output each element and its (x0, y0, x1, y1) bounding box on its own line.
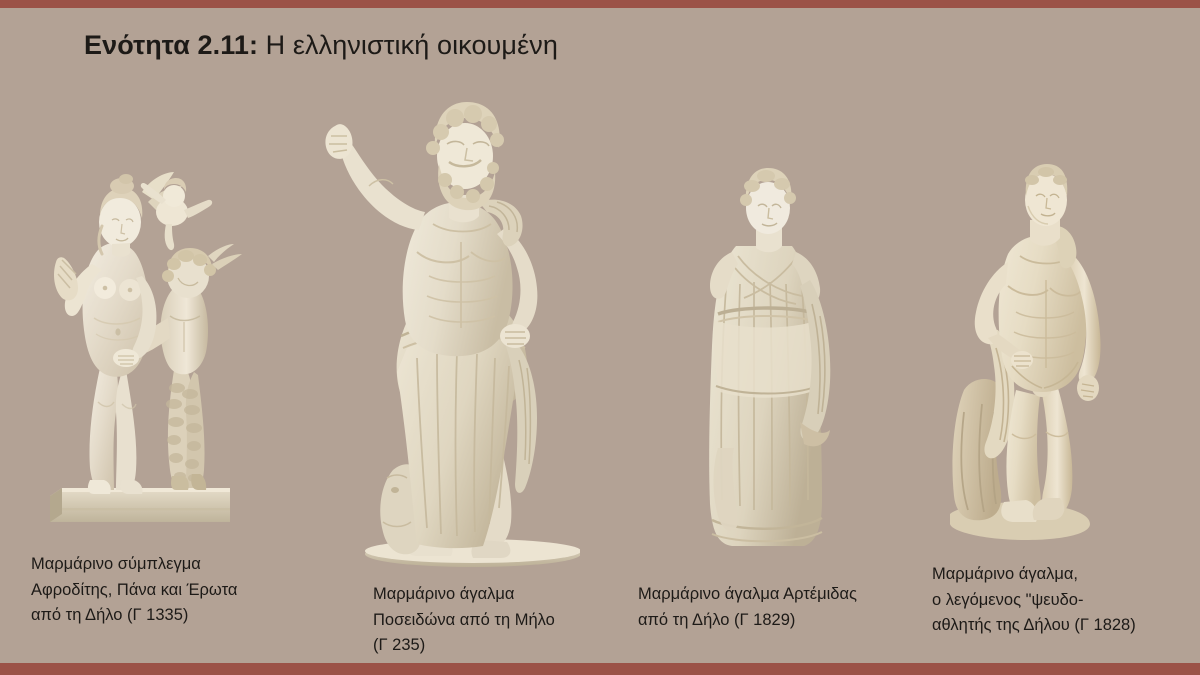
head (740, 168, 796, 234)
head (426, 102, 504, 210)
peplos-overfold (714, 320, 819, 398)
figure-eros (141, 172, 212, 250)
slide-title-rest: Η ελληνιστική οικουμένη (258, 30, 558, 60)
slide-title: Ενότητα 2.11: Η ελληνιστική οικουμένη (84, 30, 558, 61)
statue-image-pseudo-athlete-delos (942, 162, 1128, 552)
caption-aphrodite-pan-eros: Μαρμάρινο σύμπλεγμα Αφροδίτης, Πάνα και … (31, 552, 281, 629)
caption-artemis-delos: Μαρμάρινο άγαλμα Αρτέμιδας από τη Δήλο (… (638, 582, 903, 633)
statue-image-poseidon-melos (283, 92, 580, 570)
caption-pseudo-athlete-delos: Μαρμάρινο άγαλμα, ο λεγόμενος "ψευδο- αθ… (932, 562, 1200, 639)
raised-arm (325, 124, 425, 230)
figure-aphrodite (54, 174, 156, 494)
sandal-prop (54, 257, 78, 300)
presentation-slide: Ενότητα 2.11: Η ελληνιστική οικουμένη (0, 0, 1200, 675)
head (1025, 164, 1067, 226)
statue-image-aphrodite-pan-eros (22, 140, 274, 540)
statue-image-artemis-delos (692, 160, 847, 552)
top-accent-bar (0, 0, 1200, 8)
bottom-accent-bar (0, 663, 1200, 675)
caption-poseidon-melos: Μαρμάρινο άγαλμα Ποσειδώνα από τη Μήλο (… (373, 582, 623, 659)
slide-title-bold: Ενότητα 2.11: (84, 30, 258, 60)
